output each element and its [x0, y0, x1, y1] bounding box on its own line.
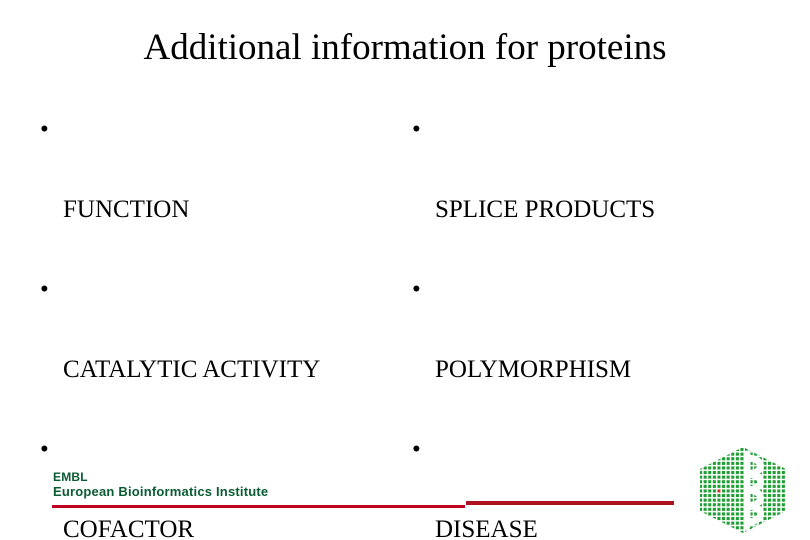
- list-item: • POLYMORPHISM: [405, 270, 805, 430]
- page-title: Additional information for proteins: [0, 26, 810, 70]
- list-item: • CATALYTIC ACTIVITY: [33, 270, 403, 430]
- list-item: • SPLICE PRODUCTS: [405, 110, 805, 270]
- bullet-icon: •: [412, 430, 426, 470]
- bullet-icon: •: [40, 430, 54, 470]
- bullet-icon: •: [40, 110, 54, 150]
- footer-rule-left: [52, 505, 465, 508]
- list-item: • FUNCTION: [33, 110, 403, 270]
- bullet-icon: •: [412, 270, 426, 310]
- footer-rule-right: [466, 501, 674, 505]
- bullet-icon: •: [412, 110, 426, 150]
- embl-ebi-wordmark: EMBL European Bioinformatics Institute: [53, 470, 268, 500]
- list-item-label: POLYMORPHISM: [435, 350, 805, 390]
- embl-short-name: EMBL: [53, 470, 268, 484]
- list-item-label: CATALYTIC ACTIVITY: [63, 350, 403, 390]
- ebi-hexagon-logo-icon: [697, 446, 789, 534]
- list-item-label: FUNCTION: [63, 190, 403, 230]
- list-item-label: SPLICE PRODUCTS: [435, 190, 805, 230]
- slide-canvas: Additional information for proteins • FU…: [0, 0, 810, 540]
- embl-long-name: European Bioinformatics Institute: [53, 484, 268, 500]
- bullet-icon: •: [40, 270, 54, 310]
- list-item-label: COFACTOR: [63, 510, 403, 540]
